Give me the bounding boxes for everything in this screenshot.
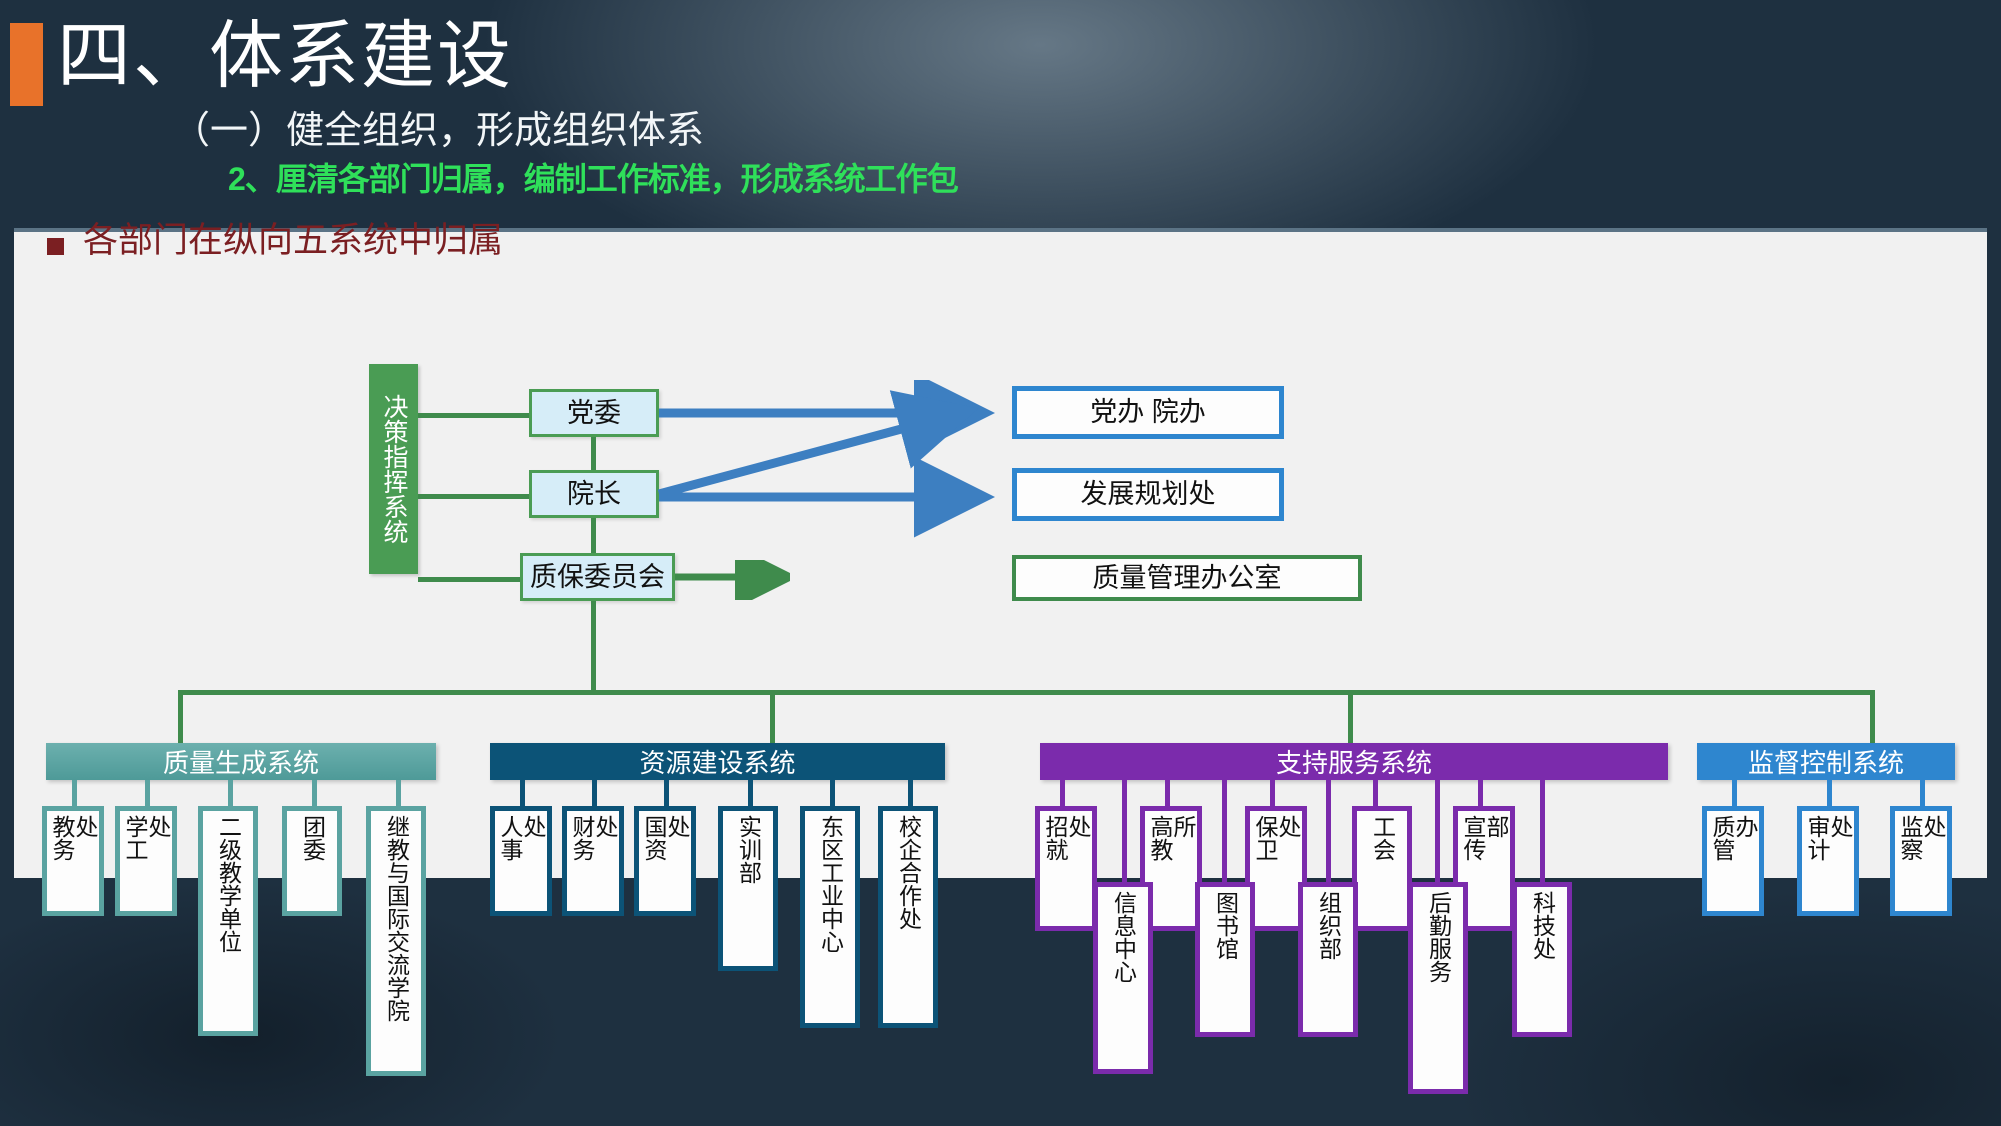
dept-box-zuzhibu[interactable]: 组织部 bbox=[1298, 882, 1358, 1037]
stem-c-7 bbox=[1222, 780, 1227, 885]
dept-box-xuanchuanbu-label: 部 宣传 bbox=[1461, 815, 1507, 861]
connector-zhibao-to-bus bbox=[591, 601, 596, 691]
mid-box-yuanzhang-label: 院长 bbox=[567, 481, 621, 508]
dept-box-dongqu-gongye-label: 东区工业中心 bbox=[819, 815, 842, 953]
system-header-resource-construction[interactable]: 资源建设系统 bbox=[490, 743, 945, 780]
dept-box-baoweichu-label: 处 保卫 bbox=[1253, 815, 1299, 861]
dept-col1: 处 bbox=[1276, 815, 1299, 838]
bus-drop-system-1 bbox=[178, 690, 183, 743]
dept-box-dongqu-gongye[interactable]: 东区工业中心 bbox=[800, 806, 860, 1028]
dept-box-xuegongchu[interactable]: 处 学工 bbox=[115, 806, 177, 916]
dept-box-erji-jiaoxue-danwei-label: 二级教学单位 bbox=[217, 815, 240, 953]
subtitle-primary: （一）健全组织，形成组织体系 bbox=[172, 112, 704, 150]
stem-a-2 bbox=[145, 780, 150, 809]
dept-box-xiaoqi-hezuo[interactable]: 校企合作处 bbox=[878, 806, 938, 1028]
system-header-resource-construction-label: 资源建设系统 bbox=[639, 743, 795, 780]
connector-dangwei-yuanzhang bbox=[591, 437, 596, 470]
stem-b-5 bbox=[830, 780, 835, 809]
dept-box-kejichu[interactable]: 科技处 bbox=[1512, 882, 1572, 1037]
bullet-square-icon bbox=[47, 238, 64, 255]
dept-box-jiaowuchu[interactable]: 处 教务 bbox=[42, 806, 104, 916]
stem-c-8 bbox=[1326, 780, 1331, 885]
stem-a-4 bbox=[312, 780, 317, 809]
dept-box-erji-jiaoxue-danwei[interactable]: 二级教学单位 bbox=[198, 806, 258, 1036]
dept-box-shixunbu[interactable]: 实训部 bbox=[718, 806, 778, 971]
dept-box-zhiguanban[interactable]: 办 质管 bbox=[1702, 806, 1764, 916]
dept-box-xinxi-zhongxin-label: 信息中心 bbox=[1112, 891, 1135, 983]
bus-drop-system-3 bbox=[1348, 690, 1353, 743]
dept-col1: 处 bbox=[521, 815, 544, 838]
system-header-support-service[interactable]: 支持服务系统 bbox=[1040, 743, 1668, 780]
stem-a-5 bbox=[396, 780, 401, 809]
dept-box-caiwuchu-label: 处 财务 bbox=[570, 815, 616, 861]
stem-c-3 bbox=[1270, 780, 1275, 809]
dept-col2: 保卫 bbox=[1253, 815, 1276, 861]
dept-box-shenjichu[interactable]: 处 审计 bbox=[1797, 806, 1859, 916]
dept-box-shixunbu-label: 实训部 bbox=[737, 815, 760, 884]
dept-box-gaojiaosuo-label: 所 高教 bbox=[1148, 815, 1194, 861]
dept-box-caiwuchu[interactable]: 处 财务 bbox=[562, 806, 624, 916]
mid-box-zhibaoweiyuanhui-label: 质保委员会 bbox=[530, 564, 665, 591]
stem-c-6 bbox=[1122, 780, 1127, 885]
dept-col2: 质管 bbox=[1710, 815, 1733, 861]
dept-col2: 招就 bbox=[1043, 815, 1066, 861]
dept-box-zhaojiuchu[interactable]: 处 招就 bbox=[1035, 806, 1097, 931]
right-box-dangban-yuanban[interactable]: 党办 院办 bbox=[1012, 386, 1284, 439]
decision-system-box[interactable]: 决策指挥系统 bbox=[369, 364, 418, 574]
right-box-fazhan-guihua[interactable]: 发展规划处 bbox=[1012, 468, 1284, 521]
stem-d-2 bbox=[1827, 780, 1832, 809]
dept-col2: 财务 bbox=[570, 815, 593, 861]
connector-decision-to-zhibaoweiyuanhui bbox=[418, 577, 529, 582]
stem-c-10 bbox=[1540, 780, 1545, 885]
dept-box-tuanwei[interactable]: 团委 bbox=[282, 806, 342, 916]
stem-b-3 bbox=[664, 780, 669, 809]
right-box-dangban-yuanban-label: 党办 院办 bbox=[1090, 399, 1206, 426]
dept-box-tushuguan[interactable]: 图书馆 bbox=[1195, 882, 1255, 1037]
bus-drop-system-4 bbox=[1870, 690, 1875, 743]
dept-col2: 监察 bbox=[1898, 815, 1921, 861]
main-bus-line bbox=[178, 690, 1875, 695]
dept-box-jiaowuchu-label: 处 教务 bbox=[50, 815, 96, 861]
dept-box-kejichu-label: 科技处 bbox=[1531, 891, 1554, 960]
bus-drop-system-2 bbox=[770, 690, 775, 743]
stem-c-1 bbox=[1060, 780, 1065, 809]
dept-box-shenjichu-label: 处 审计 bbox=[1805, 815, 1851, 861]
mid-box-yuanzhang[interactable]: 院长 bbox=[529, 470, 659, 518]
subtitle-highlight: 2、厘清各部门归属，编制工作标准，形成系统工作包 bbox=[228, 163, 958, 195]
dept-box-renshichu-label: 处 人事 bbox=[498, 815, 544, 861]
dept-box-jijiao-guoji-label: 继教与国际交流学院 bbox=[385, 815, 408, 1022]
decision-system-label: 决策指挥系统 bbox=[381, 394, 406, 544]
green-arrow-quality-office bbox=[675, 560, 790, 600]
dept-col2: 高教 bbox=[1148, 815, 1171, 861]
dept-box-xiaoqi-hezuo-label: 校企合作处 bbox=[897, 815, 920, 930]
stem-d-3 bbox=[1920, 780, 1925, 809]
dept-col1: 办 bbox=[1733, 815, 1756, 838]
dept-box-xinxi-zhongxin[interactable]: 信息中心 bbox=[1093, 882, 1153, 1074]
mid-box-zhibaoweiyuanhui[interactable]: 质保委员会 bbox=[520, 553, 675, 601]
right-box-zhiliang-guanli-label: 质量管理办公室 bbox=[1093, 565, 1282, 592]
dept-box-tuanwei-label: 团委 bbox=[301, 815, 324, 861]
system-header-quality-generation[interactable]: 质量生成系统 bbox=[46, 743, 436, 780]
dept-col1: 处 bbox=[593, 815, 616, 838]
stem-c-2 bbox=[1165, 780, 1170, 809]
mid-box-dangwei-label: 党委 bbox=[567, 400, 621, 427]
stem-c-4 bbox=[1373, 780, 1378, 809]
stem-a-1 bbox=[72, 780, 77, 809]
stem-d-1 bbox=[1732, 780, 1737, 809]
stem-a-3 bbox=[228, 780, 233, 809]
page-title: 四、体系建设 bbox=[57, 19, 513, 93]
stem-c-9 bbox=[1435, 780, 1440, 885]
dept-box-guozichu-label: 处 国资 bbox=[642, 815, 688, 861]
dept-box-houqin-fuwu[interactable]: 后勤服务 bbox=[1408, 882, 1468, 1094]
dept-box-houqin-fuwu-label: 后勤服务 bbox=[1427, 891, 1450, 983]
system-header-supervision-control[interactable]: 监督控制系统 bbox=[1697, 743, 1955, 780]
stem-b-6 bbox=[908, 780, 913, 809]
dept-col1: 所 bbox=[1171, 815, 1194, 838]
dept-box-gonghui[interactable]: 工会 bbox=[1352, 806, 1412, 931]
dept-box-guozichu[interactable]: 处 国资 bbox=[634, 806, 696, 916]
dept-col2: 国资 bbox=[642, 815, 665, 861]
dept-col1: 部 bbox=[1484, 815, 1507, 838]
dept-col1: 处 bbox=[1921, 815, 1944, 838]
stem-c-5 bbox=[1478, 780, 1483, 809]
system-header-quality-generation-label: 质量生成系统 bbox=[163, 743, 319, 780]
dept-col2: 审计 bbox=[1805, 815, 1828, 861]
mid-box-dangwei[interactable]: 党委 bbox=[529, 389, 659, 437]
dept-box-zhiguanban-label: 办 质管 bbox=[1710, 815, 1756, 861]
stem-b-4 bbox=[748, 780, 753, 809]
title-accent-bar bbox=[10, 23, 43, 106]
dept-col2: 教务 bbox=[50, 815, 73, 861]
right-box-zhiliang-guanli[interactable]: 质量管理办公室 bbox=[1012, 555, 1362, 601]
dept-col1: 处 bbox=[1066, 815, 1089, 838]
system-header-support-service-label: 支持服务系统 bbox=[1276, 743, 1432, 780]
dept-box-jianchachu-label: 处 监察 bbox=[1898, 815, 1944, 861]
dept-col1: 处 bbox=[146, 815, 169, 838]
stem-b-2 bbox=[592, 780, 597, 809]
dept-col2: 学工 bbox=[123, 815, 146, 861]
dept-col2: 人事 bbox=[498, 815, 521, 861]
stem-b-1 bbox=[520, 780, 525, 809]
dept-box-jijiao-guoji[interactable]: 继教与国际交流学院 bbox=[366, 806, 426, 1076]
right-box-fazhan-guihua-label: 发展规划处 bbox=[1081, 481, 1216, 508]
dept-col2: 宣传 bbox=[1461, 815, 1484, 861]
dept-box-zuzhibu-label: 组织部 bbox=[1317, 891, 1340, 960]
dept-col1: 处 bbox=[665, 815, 688, 838]
dept-box-renshichu[interactable]: 处 人事 bbox=[490, 806, 552, 916]
connector-decision-to-yuanzhang bbox=[418, 494, 529, 499]
system-header-supervision-control-label: 监督控制系统 bbox=[1748, 743, 1904, 780]
dept-box-gonghui-label: 工会 bbox=[1371, 815, 1394, 861]
dept-box-zhaojiuchu-label: 处 招就 bbox=[1043, 815, 1089, 861]
dept-box-tushuguan-label: 图书馆 bbox=[1214, 891, 1237, 960]
dept-box-jianchachu[interactable]: 处 监察 bbox=[1890, 806, 1952, 916]
dept-col1: 处 bbox=[1828, 815, 1851, 838]
dept-box-xuegongchu-label: 处 学工 bbox=[123, 815, 169, 861]
bullet-label: 各部门在纵向五系统中归属 bbox=[83, 222, 503, 261]
dept-col1: 处 bbox=[73, 815, 96, 838]
connector-yuanzhang-zhibao bbox=[591, 518, 596, 553]
connector-decision-to-dangwei bbox=[418, 413, 529, 418]
